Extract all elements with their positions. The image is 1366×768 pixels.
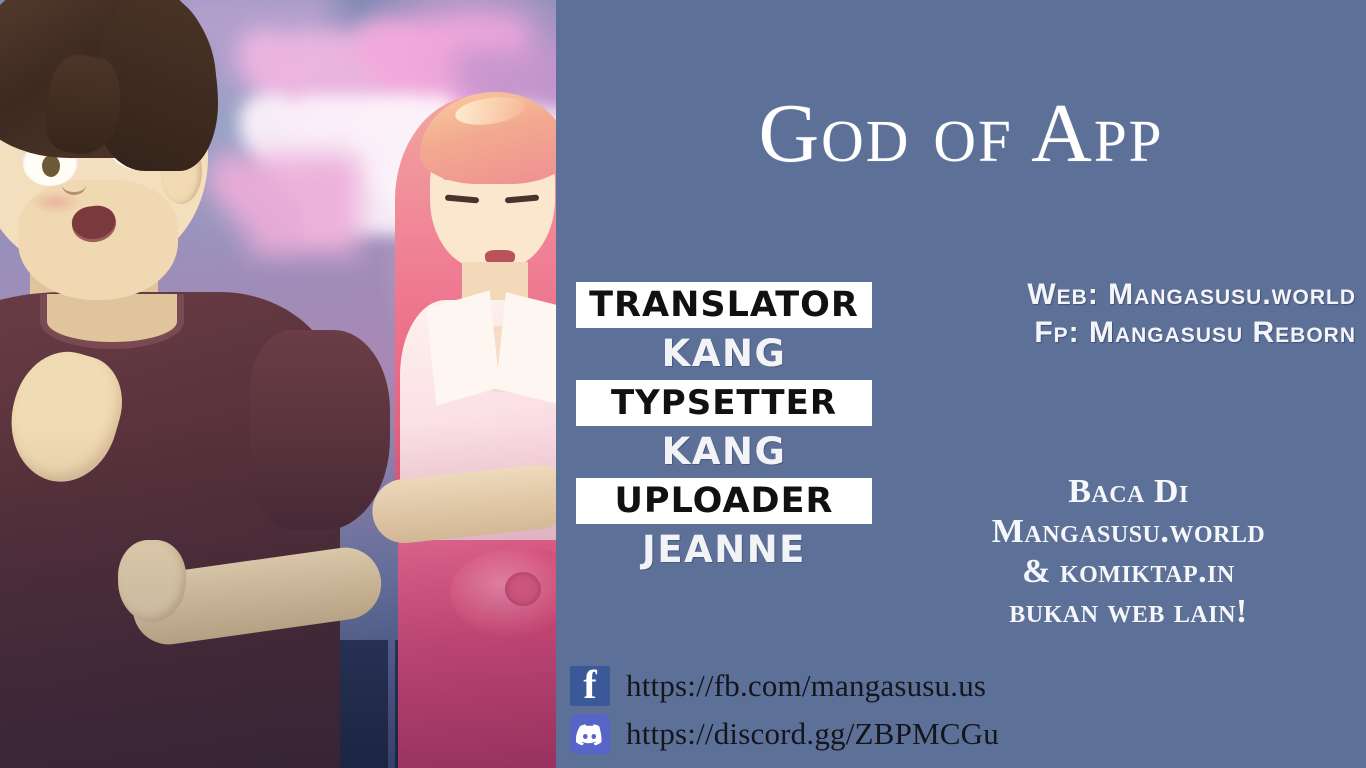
- web-info-site: Web: Mangasusu.world: [886, 276, 1356, 314]
- girl-collar: [496, 292, 556, 403]
- boy-pupil: [42, 155, 60, 177]
- read-notice: Baca Di Mangasusu.world & komiktap.in bu…: [901, 472, 1356, 632]
- facebook-url[interactable]: https://fb.com/mangasusu.us: [626, 668, 986, 704]
- read-notice-line-1: Baca Di: [901, 472, 1356, 512]
- credit-role-typesetter: TYPSETTER: [576, 380, 872, 426]
- credit-role-translator: TRANSLATOR: [576, 282, 872, 328]
- series-title: God of App: [556, 92, 1366, 176]
- read-notice-line-4: bukan web lain!: [901, 592, 1356, 632]
- social-link-facebook[interactable]: f https://fb.com/mangasusu.us: [570, 662, 1070, 710]
- cover-artwork: [0, 0, 556, 768]
- credits-page: God of App TRANSLATOR KANG PANSOS TYPSET…: [0, 0, 1366, 768]
- web-info-fanpage: Fp: Mangasusu Reborn: [886, 314, 1356, 352]
- social-links: f https://fb.com/mangasusu.us https://di…: [570, 662, 1070, 758]
- boy-collar: [40, 294, 184, 349]
- discord-icon[interactable]: [570, 714, 610, 754]
- read-notice-line-2: Mangasusu.world: [901, 512, 1356, 552]
- facebook-icon[interactable]: f: [570, 666, 610, 706]
- credits-list: TRANSLATOR KANG PANSOS TYPSETTER KANG PA…: [576, 282, 872, 576]
- info-panel: God of App TRANSLATOR KANG PANSOS TYPSET…: [556, 0, 1366, 768]
- girl-bow-knot: [505, 572, 541, 606]
- credit-name-uploader: JEANNE: [576, 524, 872, 576]
- boy-blush: [30, 190, 82, 214]
- web-info: Web: Mangasusu.world Fp: Mangasusu Rebor…: [886, 276, 1356, 352]
- credit-name-translator: KANG PANSOS: [576, 328, 872, 380]
- heart-bokeh-icon: [250, 155, 360, 255]
- credit-name-typesetter: KANG PANSOS: [576, 426, 872, 478]
- girl-collar: [426, 290, 500, 405]
- credit-role-uploader: UPLOADER: [576, 478, 872, 524]
- discord-url[interactable]: https://discord.gg/ZBPMCGu: [626, 716, 999, 752]
- read-notice-line-3: & komiktap.in: [901, 552, 1356, 592]
- social-link-discord[interactable]: https://discord.gg/ZBPMCGu: [570, 710, 1070, 758]
- boy-fist: [118, 540, 186, 622]
- boy-sleeve: [250, 330, 390, 530]
